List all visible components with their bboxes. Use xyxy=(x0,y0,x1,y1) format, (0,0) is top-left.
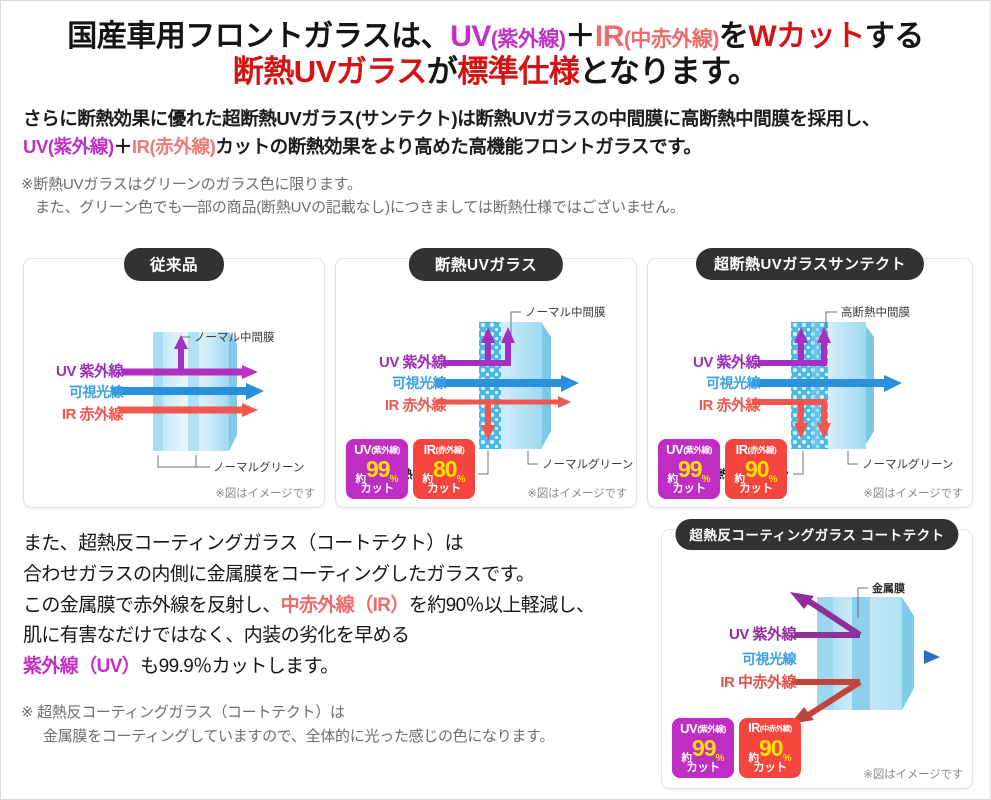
badge-group-coat-tect: UV(紫外線) 約99% カット IR(中赤外線) 約90% カット xyxy=(672,718,801,778)
headline-run-0: 国産車用フロントガラスは、 xyxy=(67,20,450,53)
bottom-line-5: 紫外線（UV）も99.9％カットします。 xyxy=(23,652,643,683)
badge-uv-99-suntect: UV(紫外線) 約99% カット xyxy=(658,439,720,499)
bottom-line-5-run-1: も99.9％カットします。 xyxy=(140,656,338,677)
callout-metal-film: 金属膜 xyxy=(872,581,905,595)
ray-label-visible: 可視光線 xyxy=(33,384,123,402)
bottom-line-3-run-0: この金属膜で赤外線を反射し、 xyxy=(23,595,281,616)
bottom-line-5-run-0: 紫外線（UV） xyxy=(23,656,140,677)
top-disclaimer: ※断熱UVガラスはグリーンのガラス色に限ります。 また、グリーン色でも一部の商品… xyxy=(21,173,990,220)
headline-run-7: Wカット xyxy=(748,20,864,53)
ray-label-ir-mid-coat: IR 中赤外線 xyxy=(674,673,796,693)
figure-note-coat-tect: ※図はイメージです xyxy=(863,766,963,782)
panel-diagram-coat-tect: 金属膜 UV 紫外線 可視光線 IR 中赤外線 UV(紫外線 xyxy=(662,530,972,788)
badge-uv-cut-coat: カット xyxy=(672,763,734,775)
panel-conventional: 従来品 xyxy=(23,258,325,508)
badge-uv-title-suntect: UV(紫外線) xyxy=(658,443,720,456)
headline-run-5: (中赤外線) xyxy=(624,28,719,51)
bottom-disclaimer-line-1: ※ 超熱反コーティングガラス（コートテクト）は xyxy=(21,704,345,721)
headline-run-0: 断熱UVガラス xyxy=(233,54,427,89)
lead-ir-token: IR(赤外線) xyxy=(132,136,216,157)
bottom-line-2: 合わせガラスの内側に金属膜をコーティングしたガラスです。 xyxy=(23,560,643,591)
panel-suntect: 超断熱UVガラスサンテクト xyxy=(647,258,973,508)
badge-ir-title-suntect: IR(赤外線) xyxy=(725,443,787,456)
ray-label-visible-2: 可視光線 xyxy=(356,375,446,393)
bottom-line-1-run-0: また、超熱反コーティングガラス（コートテクト）は xyxy=(23,533,463,554)
ray-label-visible-coat: 可視光線 xyxy=(674,650,796,668)
figure-note-suntect: ※図はイメージです xyxy=(863,485,963,501)
ray-label-visible-3: 可視光線 xyxy=(670,375,760,393)
badge-ir-cut-suntect: カット xyxy=(725,484,787,496)
headline-run-4: IR xyxy=(595,20,624,53)
panel-diagram-conventional: ノーマル中間膜 ノーマルグリーン xyxy=(24,259,324,507)
ray-label-uv-coat: UV 紫外線 xyxy=(674,625,796,645)
bottom-line-3-run-2: を約90％以上軽減し、 xyxy=(409,595,595,616)
infographic-root: 国産車用フロントガラスは、UV(紫外線)＋IR(中赤外線)をWカットする 断熱U… xyxy=(0,0,991,800)
badge-uv-99-coat: UV(紫外線) 約99% カット xyxy=(672,718,734,778)
bottom-line-2-run-0: 合わせガラスの内側に金属膜をコーティングしたガラスです。 xyxy=(23,564,534,585)
badge-group-suntect: UV(紫外線) 約99% カット IR(赤外線) 約90% カット xyxy=(658,439,787,499)
badge-uv-value: 約99% xyxy=(346,458,408,485)
panel-heat-shield-uv: 断熱UVガラス xyxy=(335,258,637,508)
bottom-line-1: また、超熱反コーティングガラス（コートテクト）は xyxy=(23,529,643,560)
top-disclaimer-line-2: また、グリーン色でも一部の商品(断熱UVの記載なし)につきましては断熱仕様ではご… xyxy=(21,196,990,219)
badge-group-heat-shield-uv: UV(紫外線) 約99% カット IR(赤外線) 約80% カット xyxy=(346,439,475,499)
lead-line-1: さらに断熱効果に優れた超断熱UVガラス(サンテクト)は断熱UVガラスの中間膜に高… xyxy=(23,105,990,133)
badge-ir-cut: カット xyxy=(413,484,475,496)
ray-label-ir: IR 赤外線 xyxy=(33,405,123,424)
badge-ir-80: IR(赤外線) 約80% カット xyxy=(413,439,475,499)
ray-label-ir-2: IR 赤外線 xyxy=(356,396,446,415)
lead-uv-token: UV(紫外線) xyxy=(23,136,114,157)
headline-run-1: UV xyxy=(450,20,491,53)
headline-run-2: 標準仕様 xyxy=(457,54,579,89)
badge-ir-value: 約80% xyxy=(413,458,475,485)
headline-run-8: する xyxy=(865,20,924,53)
figure-note-heat-shield-uv: ※図はイメージです xyxy=(527,485,627,501)
badge-uv-title: UV(紫外線) xyxy=(346,443,408,456)
panel-coat-tect: 超熱反コーティングガラス コートテクト xyxy=(661,529,973,789)
badge-uv-99: UV(紫外線) 約99% カット xyxy=(346,439,408,499)
figure-note-conventional: ※図はイメージです xyxy=(215,485,315,501)
bottom-description: また、超熱反コーティングガラス（コートテクト）は合わせガラスの内側に金属膜をコー… xyxy=(23,529,643,683)
badge-ir-90-coat: IR(中赤外線) 約90% カット xyxy=(739,718,801,778)
ray-label-ir-3: IR 赤外線 xyxy=(670,396,760,415)
callout-normal-green-3: ノーマルグリーン xyxy=(862,457,953,471)
headline-run-3: となります。 xyxy=(579,54,758,89)
callout-normal-green-2: ノーマルグリーン xyxy=(542,457,633,471)
badge-ir-value-suntect: 約90% xyxy=(725,458,787,485)
badge-ir-90-suntect: IR(赤外線) 約90% カット xyxy=(725,439,787,499)
badge-uv-title-coat: UV(紫外線) xyxy=(672,722,734,735)
callout-normal-interlayer-2: ノーマル中間膜 xyxy=(525,306,606,319)
bottom-line-4-run-0: 肌に有害なだけではなく、内装の劣化を早める xyxy=(23,625,409,646)
lead-plus-token: ＋ xyxy=(114,136,132,157)
headline-run-2: (紫外線) xyxy=(491,28,566,51)
panel-diagram-suntect: 高断熱中間膜 断熱UVグリーン xyxy=(648,259,972,507)
bottom-line-3-run-1: 中赤外線（IR） xyxy=(281,595,409,616)
comparison-panels: 従来品 xyxy=(23,258,971,508)
headline-run-3: ＋ xyxy=(565,20,595,53)
lead-paragraph: さらに断熱効果に優れた超断熱UVガラス(サンテクト)は断熱UVガラスの中間膜に高… xyxy=(23,105,990,161)
lead-rest-token: カットの断熱効果をより高めた高機能フロントガラスです。 xyxy=(215,136,701,157)
headline-line-1: 国産車用フロントガラスは、UV(紫外線)＋IR(中赤外線)をWカットする xyxy=(1,19,990,54)
bottom-disclaimer: ※ 超熱反コーティングガラス（コートテクト）は 金属膜をコーティングしていますの… xyxy=(21,701,554,749)
headline-run-6: を xyxy=(719,20,749,53)
bottom-disclaimer-line-2: 金属膜をコーティングしていますので、全体的に光った感じの色になります。 xyxy=(21,725,554,749)
badge-uv-cut: カット xyxy=(346,484,408,496)
panel-diagram-heat-shield-uv: ノーマル中間膜 断熱UVグリーン xyxy=(336,259,636,507)
ray-label-uv: UV 紫外線 xyxy=(33,362,123,381)
top-disclaimer-line-1: ※断熱UVガラスはグリーンのガラス色に限ります。 xyxy=(21,176,362,193)
badge-uv-value-suntect: 約99% xyxy=(658,458,720,485)
bottom-line-4: 肌に有害なだけではなく、内装の劣化を早める xyxy=(23,621,643,652)
callout-normal-green: ノーマルグリーン xyxy=(213,460,304,474)
headline: 国産車用フロントガラスは、UV(紫外線)＋IR(中赤外線)をWカットする 断熱U… xyxy=(1,1,990,91)
badge-ir-title-coat: IR(中赤外線) xyxy=(739,722,801,735)
headline-line-2: 断熱UVガラスが標準仕様となります。 xyxy=(1,54,990,91)
badge-ir-cut-coat: カット xyxy=(739,763,801,775)
ray-label-uv-3: UV 紫外線 xyxy=(670,353,760,372)
badge-uv-value-coat: 約99% xyxy=(672,737,734,764)
headline-run-1: が xyxy=(427,54,458,89)
badge-ir-value-coat: 約90% xyxy=(739,737,801,764)
callout-high-heat-interlayer: 高断熱中間膜 xyxy=(841,306,910,319)
lead-line-2: UV(紫外線)＋IR(赤外線)カットの断熱効果をより高めた高機能フロントガラスで… xyxy=(23,133,990,161)
badge-uv-cut-suntect: カット xyxy=(658,484,720,496)
badge-ir-title: IR(赤外線) xyxy=(413,443,475,456)
bottom-line-3: この金属膜で赤外線を反射し、中赤外線（IR）を約90％以上軽減し、 xyxy=(23,591,643,622)
callout-normal-interlayer: ノーマル中間膜 xyxy=(194,331,275,344)
ray-label-uv-2: UV 紫外線 xyxy=(356,353,446,372)
